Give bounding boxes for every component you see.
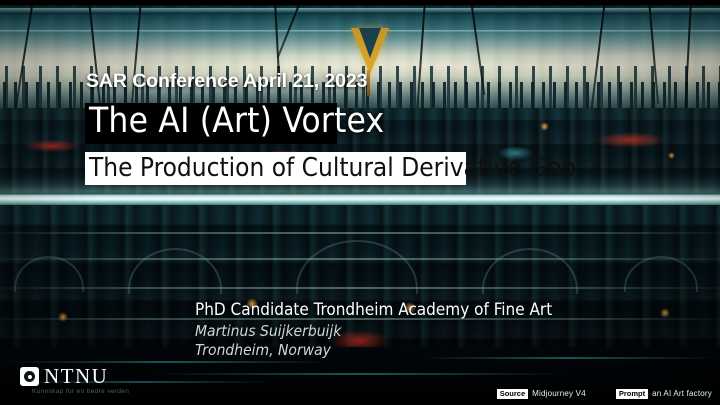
ntnu-icon-ring <box>24 371 35 382</box>
credit-prompt-text: an AI Art factory <box>652 389 712 398</box>
ntnu-icon-dot <box>28 375 32 379</box>
credit-source: Source Midjourney V4 <box>497 389 586 400</box>
credit-source-badge: Source <box>497 389 528 400</box>
credit-prompt-badge: Prompt <box>616 389 648 400</box>
bg-gold-v-structure <box>351 28 389 74</box>
bg-ceiling-beam <box>0 8 720 14</box>
bg-red-glow <box>596 132 666 148</box>
ntnu-wordmark: NTNU <box>44 367 108 386</box>
bg-red-glow <box>24 140 80 152</box>
author-affiliation: PhD Candidate Trondheim Academy of Fine … <box>195 300 552 320</box>
image-credits: Source Midjourney V4 Prompt an AI Art fa… <box>497 389 712 400</box>
ntnu-tagline: Kunnskap for en bedre verden <box>32 388 129 395</box>
ntnu-circle-dot-icon <box>20 367 39 386</box>
author-name: Martinus Suijkerbuijk <box>195 322 341 340</box>
credit-source-text: Midjourney V4 <box>532 389 586 398</box>
event-kicker: SAR Conference April 21, 2023 <box>86 70 367 93</box>
bg-light-streak <box>420 357 720 359</box>
background-image <box>0 0 720 405</box>
bg-shelf-line <box>0 232 720 234</box>
bg-gold-v-stem <box>367 70 370 96</box>
page-title: The AI (Art) Vortex <box>89 101 384 141</box>
ntnu-logo: NTNU <box>20 367 108 386</box>
author-location: Trondheim, Norway <box>195 341 331 359</box>
page-subtitle: The Production of Cultural Derivative Go… <box>89 152 576 185</box>
presentation-slide: SAR Conference April 21, 2023 The AI (Ar… <box>0 0 720 405</box>
credit-prompt: Prompt an AI Art factory <box>616 389 712 400</box>
bg-light-streak <box>0 361 330 363</box>
bg-top-black-bar <box>0 0 720 5</box>
bg-light-streak <box>150 373 570 375</box>
